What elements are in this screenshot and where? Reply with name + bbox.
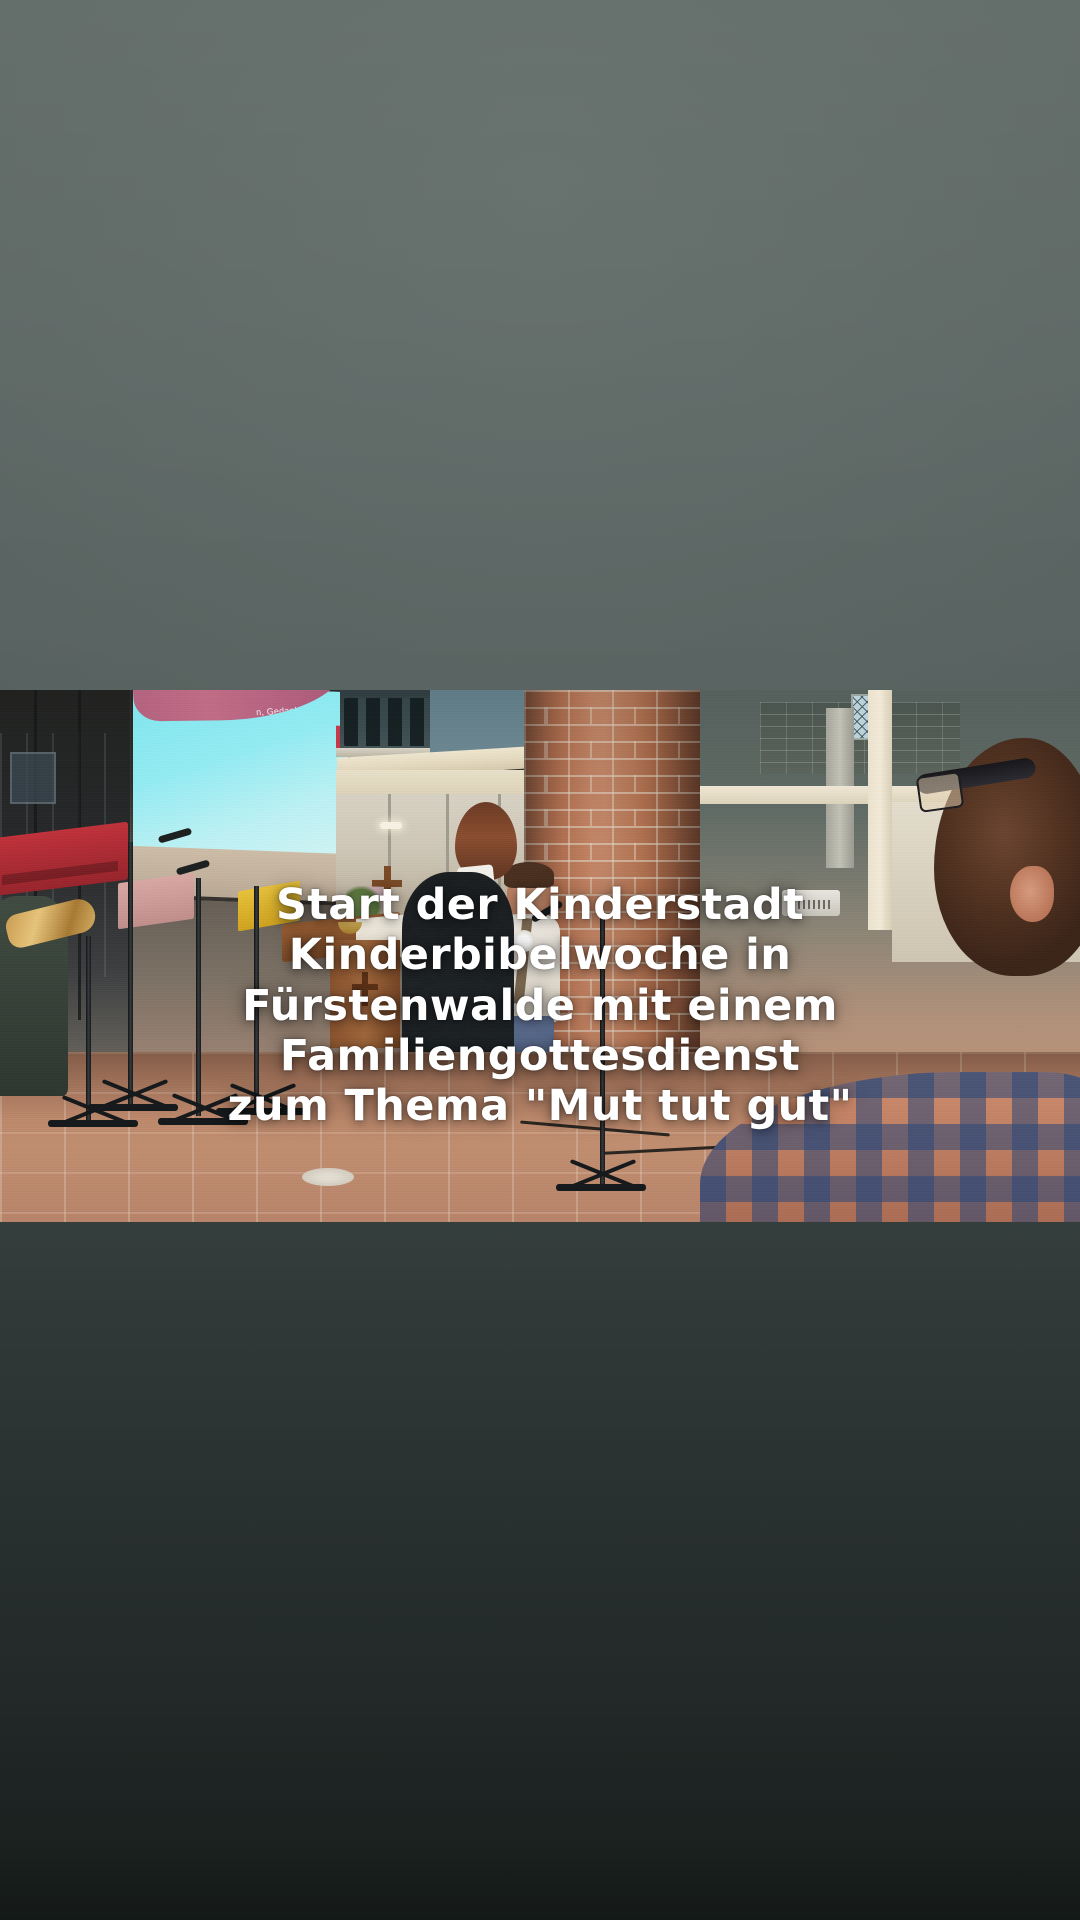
mic-stand-base <box>158 1118 248 1125</box>
mic-stand-pole <box>254 886 259 1110</box>
mic-stand-base <box>48 1120 138 1127</box>
projector-device <box>782 890 840 916</box>
mic-stand-pole <box>128 842 133 1110</box>
photo-strip: n, Gedanken, Aktion <box>0 690 1080 1222</box>
child-badge <box>513 930 535 952</box>
mic-stand-base <box>556 1184 646 1191</box>
screen-banner: n, Gedanken, Aktion <box>132 690 350 722</box>
ceiling-light <box>380 822 402 829</box>
screen-banner-text: n, Gedanken, Aktion <box>256 703 341 717</box>
floor-disc <box>302 1168 354 1186</box>
story-canvas: n, Gedanken, Aktion <box>0 0 1080 1920</box>
mic-stand-pole <box>86 936 91 1124</box>
foreground-person-ear <box>1010 866 1054 922</box>
pulpit-cross <box>352 972 378 1006</box>
eyeglasses-lens <box>916 771 965 813</box>
left-window <box>10 752 56 804</box>
mic-stand-pole <box>600 912 605 1190</box>
mic-stand-base <box>216 1108 306 1115</box>
church-scene-photo: n, Gedanken, Aktion <box>0 690 1080 1222</box>
projection-screen: n, Gedanken, Aktion <box>133 690 348 870</box>
mid-level-band <box>336 770 536 796</box>
mic-stand-pole <box>196 878 201 1116</box>
cream-column <box>868 690 892 930</box>
